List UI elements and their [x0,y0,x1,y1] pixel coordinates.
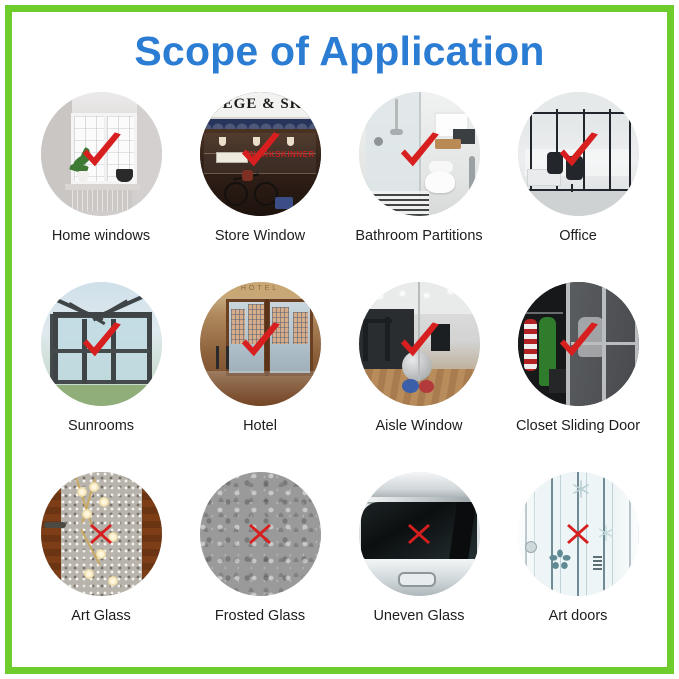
thumbnail-closet-sliding-door [518,282,639,406]
scene-closet-sliding-door [518,282,639,406]
thumbnail-hotel: HOTEL [200,282,321,406]
grid-item-closet-sliding-door[interactable]: Closet Sliding Door [503,282,653,434]
scene-frosted-glass [200,472,321,596]
thumbnail-bathroom-partitions [359,92,480,216]
scene-office [518,92,639,216]
application-grid: Home windows DEGE & SKI [26,92,653,662]
grid-item-office[interactable]: Office [503,92,653,244]
flower-motif-icon [597,524,615,542]
grid-row: Sunrooms HOTEL [26,282,653,472]
item-label: Art doors [549,608,608,624]
grid-item-art-doors[interactable]: Art doors [503,472,653,624]
grid-item-home-windows[interactable]: Home windows [26,92,176,244]
grid-item-hotel[interactable]: HOTEL H [185,282,335,434]
grid-item-store-window[interactable]: DEGE & SKI WORKSKINNER [185,92,335,244]
thumbnail-art-glass [41,472,162,596]
scene-home-windows [41,92,162,216]
thumbnail-home-windows [41,92,162,216]
item-label: Closet Sliding Door [516,418,640,434]
scene-bathroom-partitions [359,92,480,216]
scene-art-doors [518,472,639,596]
item-label: Bathroom Partitions [355,228,482,244]
thumbnail-art-doors [518,472,639,596]
item-label: Frosted Glass [215,608,305,624]
thumbnail-frosted-glass [200,472,321,596]
store-sign-text: DEGE & SKI [200,96,321,113]
page-title: Scope of Application [0,28,679,75]
grid-item-bathroom-partitions[interactable]: Bathroom Partitions [344,92,494,244]
grid-item-uneven-glass[interactable]: Uneven Glass [344,472,494,624]
infographic-page: Scope of Application [0,0,679,679]
item-label: Aisle Window [375,418,462,434]
store-banner-text: WORKSKINNER [248,150,315,159]
item-label: Sunrooms [68,418,134,434]
hotel-band-text: HOTEL [200,285,321,292]
scene-hotel: HOTEL [200,282,321,406]
item-label: Hotel [243,418,277,434]
grid-item-sunrooms[interactable]: Sunrooms [26,282,176,434]
scene-store-window: DEGE & SKI WORKSKINNER [200,92,321,216]
grid-item-aisle-window[interactable]: Aisle Window [344,282,494,434]
grid-row: Home windows DEGE & SKI [26,92,653,282]
thumbnail-office [518,92,639,216]
scene-art-glass [41,472,162,596]
item-label: Uneven Glass [373,608,464,624]
item-label: Store Window [215,228,305,244]
item-label: Art Glass [71,608,131,624]
flower-motif-icon [549,549,571,571]
item-label: Home windows [52,228,150,244]
thumbnail-uneven-glass [359,472,480,596]
scene-sunrooms [41,282,162,406]
grid-item-frosted-glass[interactable]: Frosted Glass [185,472,335,624]
thumbnail-aisle-window [359,282,480,406]
scene-uneven-glass [359,472,480,596]
grid-item-art-glass[interactable]: Art Glass [26,472,176,624]
scene-aisle-window [359,282,480,406]
grid-row: Art Glass Frosted Glass [26,472,653,662]
thumbnail-store-window: DEGE & SKI WORKSKINNER [200,92,321,216]
flower-motif-icon [571,479,591,499]
item-label: Office [559,228,597,244]
thumbnail-sunrooms [41,282,162,406]
